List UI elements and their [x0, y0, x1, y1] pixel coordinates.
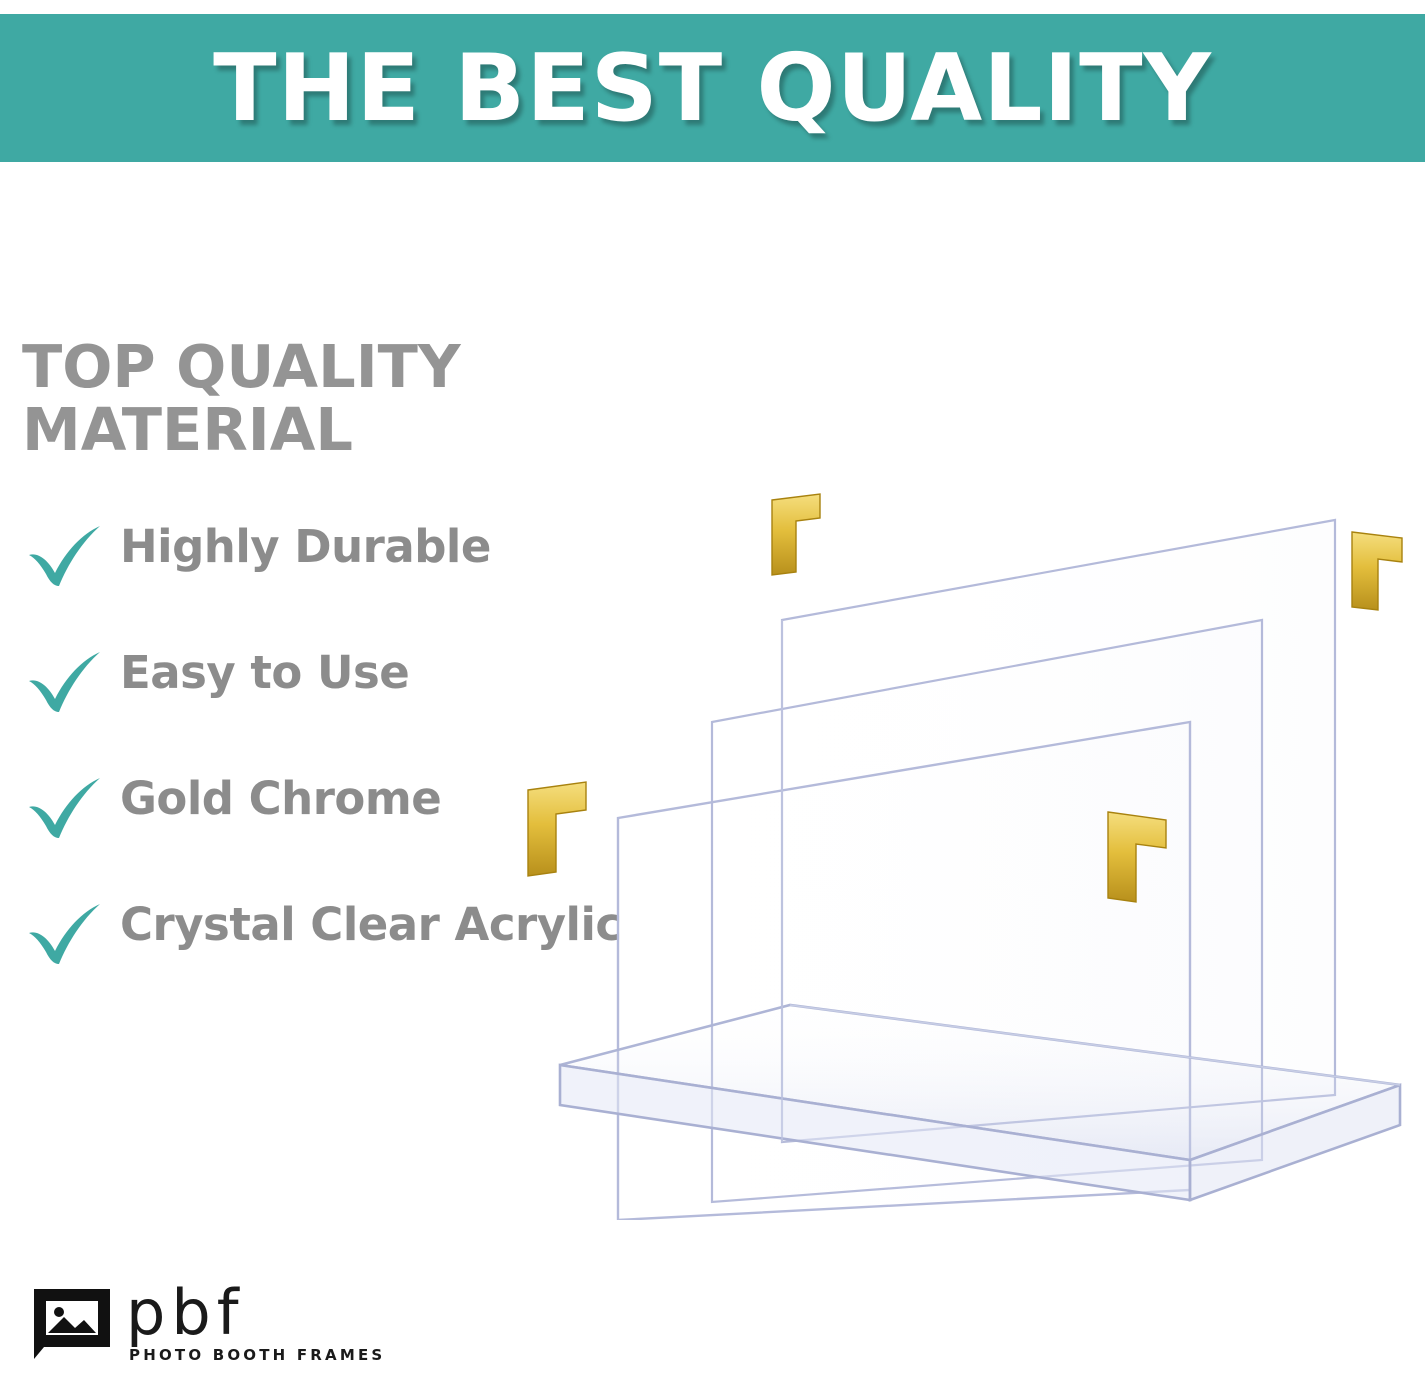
check-icon [10, 898, 120, 968]
brand-tagline: PHOTO BOOTH FRAMES [129, 1346, 385, 1364]
page-title-line-2: MATERIAL [22, 398, 662, 461]
acrylic-sorter-body [528, 494, 1402, 1220]
check-icon [10, 520, 120, 590]
photo-frame-icon [30, 1285, 114, 1363]
brand-wordmark: pbf PHOTO BOOTH FRAMES [126, 1284, 385, 1365]
page-title-line-1: TOP QUALITY [22, 335, 662, 398]
top-banner: THE BEST QUALITY [0, 14, 1425, 162]
brand-logo: pbf PHOTO BOOTH FRAMES [30, 1274, 385, 1374]
check-icon [10, 646, 120, 716]
gold-bracket-rear-right [1352, 532, 1402, 610]
feature-label: Highly Durable [120, 520, 491, 573]
product-image [490, 460, 1425, 1220]
page-title: TOP QUALITY MATERIAL [22, 335, 662, 461]
feature-label: Easy to Use [120, 646, 409, 699]
brand-name: pbf [126, 1284, 385, 1343]
gold-bracket-front-left [528, 782, 586, 876]
banner-headline: THE BEST QUALITY [213, 42, 1212, 135]
check-icon [10, 772, 120, 842]
feature-label: Gold Chrome [120, 772, 441, 825]
gold-bracket-rear-left [772, 494, 820, 575]
